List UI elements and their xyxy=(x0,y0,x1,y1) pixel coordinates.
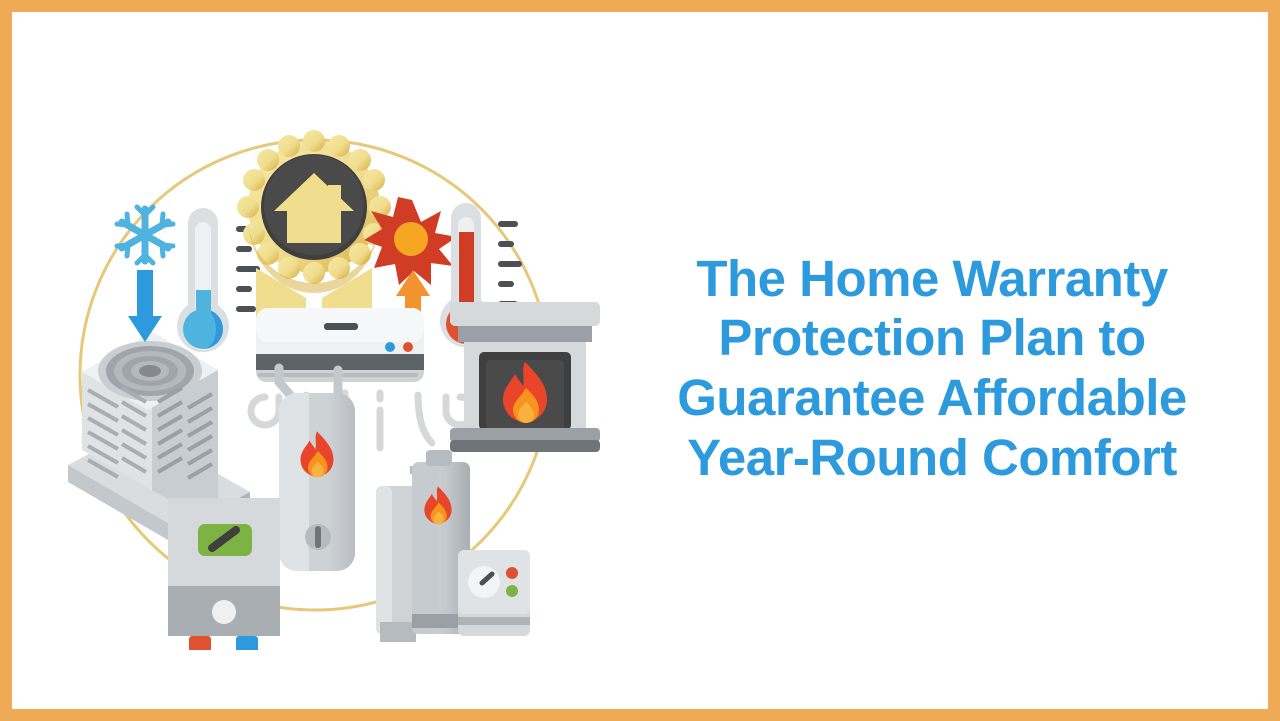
page-title: The Home Warranty Protection Plan to Gua… xyxy=(612,249,1252,488)
fireplace-icon xyxy=(450,302,600,452)
title-line-2: Protection Plan to xyxy=(612,308,1252,368)
wall-boiler-icon xyxy=(168,498,280,650)
hvac-illustration xyxy=(60,90,600,650)
title-line-1: The Home Warranty xyxy=(612,249,1252,309)
content-area: The Home Warranty Protection Plan to Gua… xyxy=(12,12,1268,709)
slide-canvas: The Home Warranty Protection Plan to Gua… xyxy=(0,0,1280,721)
temperature-down-arrow-icon xyxy=(128,270,162,342)
furnace-icon xyxy=(376,450,530,642)
title-line-4: Year-Round Comfort xyxy=(612,428,1252,488)
water-heater-icon xyxy=(279,368,355,571)
headline-block: The Home Warranty Protection Plan to Gua… xyxy=(612,208,1252,528)
frame-border-top xyxy=(0,0,1280,12)
frame-border-right xyxy=(1268,0,1280,721)
frame-border-left xyxy=(0,0,12,721)
frame-border-bottom xyxy=(0,709,1280,721)
title-line-3: Guarantee Affordable xyxy=(612,368,1252,428)
